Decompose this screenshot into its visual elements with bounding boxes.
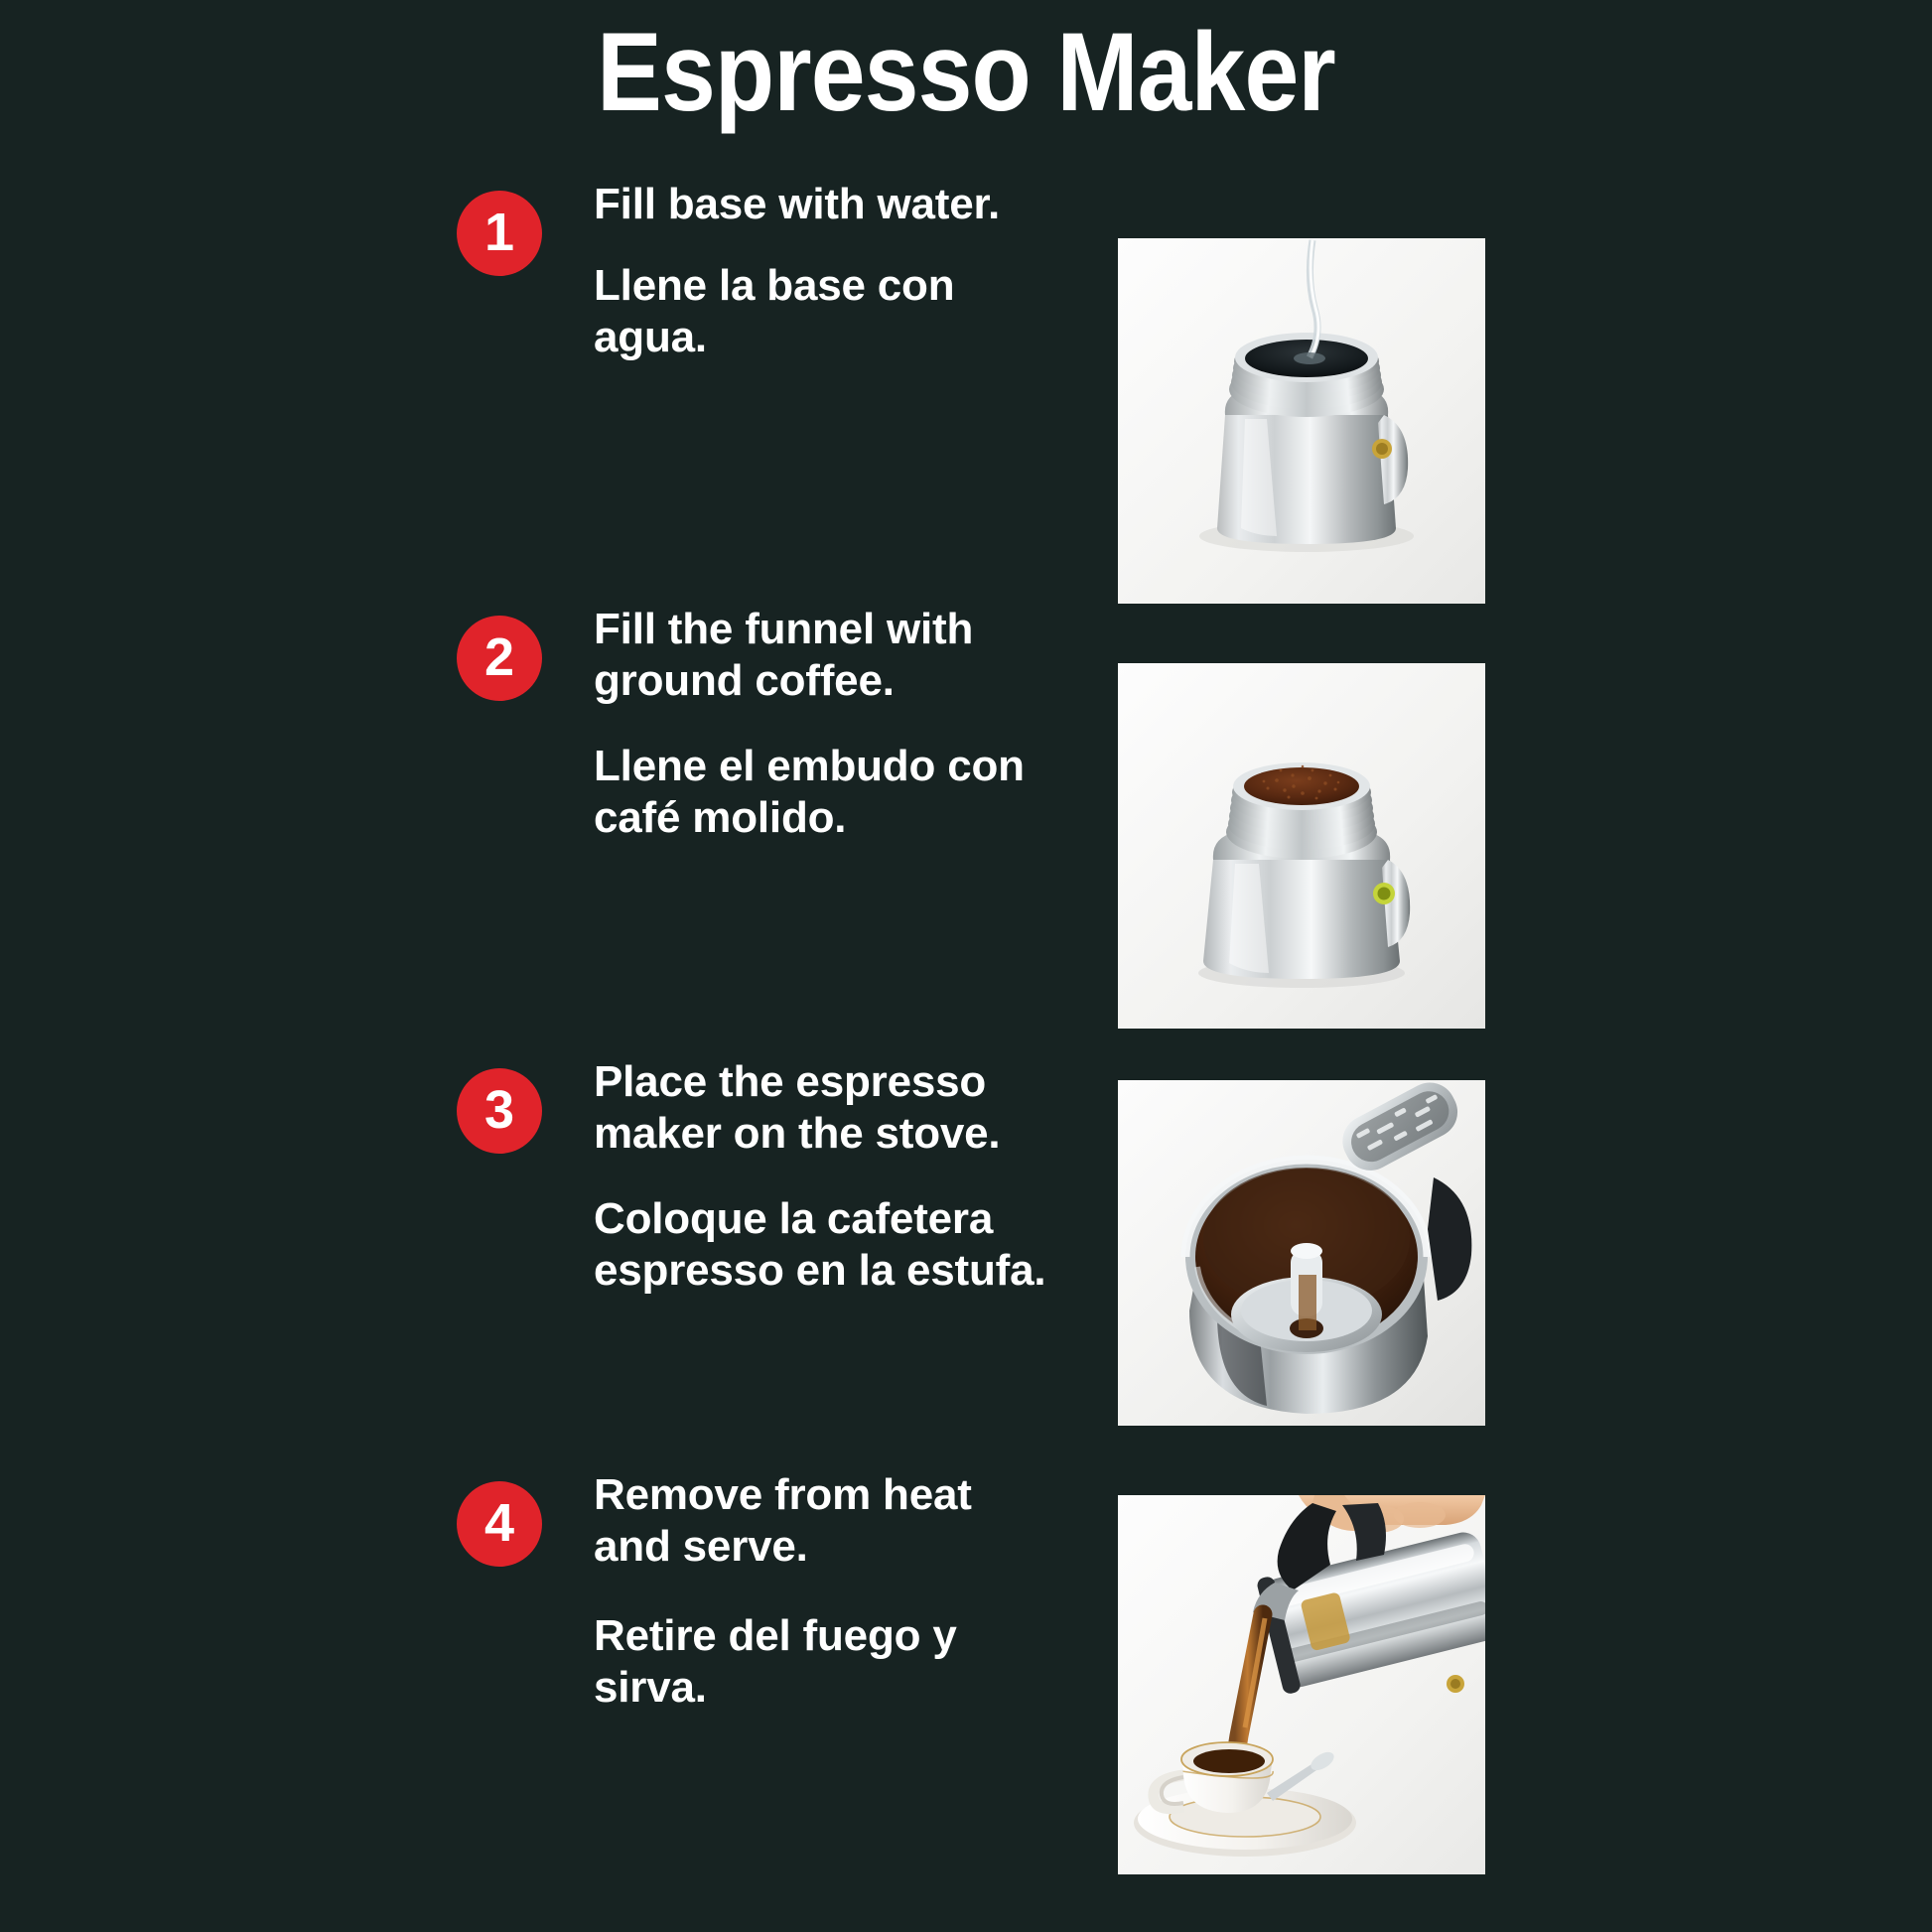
step-photo-4 bbox=[1118, 1495, 1485, 1874]
infographic-page: Espresso Maker 1 Fill base with water. L… bbox=[0, 0, 1932, 1932]
step-text-english-4: Remove from heat and serve. bbox=[594, 1469, 1060, 1573]
step-text-spanish-1: Llene la base con agua. bbox=[594, 260, 1060, 363]
steps-list: 1 Fill base with water. Llene la base co… bbox=[0, 0, 1932, 1932]
step-photo-3 bbox=[1118, 1080, 1485, 1426]
step-text-spanish-3: Coloque la cafetera espresso en la estuf… bbox=[594, 1193, 1060, 1297]
step-photo-2 bbox=[1118, 663, 1485, 1029]
step-text-spanish-4: Retire del fuego y sirva. bbox=[594, 1610, 1060, 1714]
step-number-badge-1: 1 bbox=[457, 191, 542, 276]
step-text-english-3: Place the espresso maker on the stove. bbox=[594, 1056, 1060, 1160]
step-text-1: Fill base with water. Llene la base con … bbox=[594, 179, 1060, 363]
step-number-badge-2: 2 bbox=[457, 616, 542, 701]
open-moka-pot-brewing-icon bbox=[1118, 1080, 1485, 1426]
step-text-3: Place the espresso maker on the stove. C… bbox=[594, 1056, 1060, 1297]
pouring-espresso-icon bbox=[1118, 1495, 1485, 1874]
moka-pot-base-water-icon bbox=[1118, 238, 1485, 604]
step-text-spanish-2: Llene el embudo con café molido. bbox=[594, 741, 1060, 844]
step-text-english-1: Fill base with water. bbox=[594, 179, 1060, 230]
step-text-2: Fill the funnel with ground coffee. Llen… bbox=[594, 604, 1060, 844]
moka-pot-ground-coffee-icon bbox=[1118, 663, 1485, 1029]
step-text-english-2: Fill the funnel with ground coffee. bbox=[594, 604, 1060, 707]
step-text-4: Remove from heat and serve. Retire del f… bbox=[594, 1469, 1060, 1714]
step-photo-1 bbox=[1118, 238, 1485, 604]
step-number-badge-3: 3 bbox=[457, 1068, 542, 1154]
step-number-badge-4: 4 bbox=[457, 1481, 542, 1567]
